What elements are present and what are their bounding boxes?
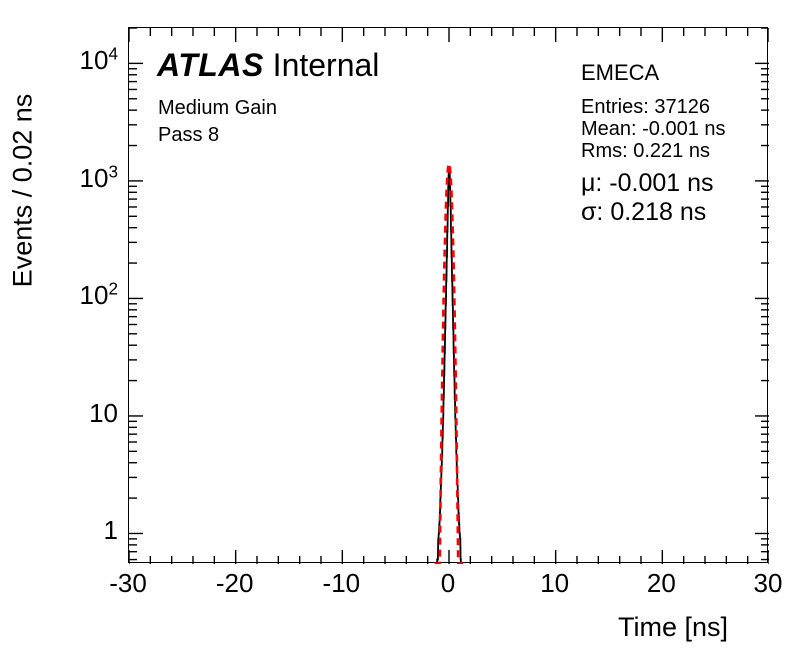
x-tick-label: 30 bbox=[723, 568, 796, 599]
pass-label: Pass 8 bbox=[158, 124, 219, 147]
y-tick-label: 104 bbox=[8, 45, 118, 76]
data-series-layer bbox=[435, 164, 464, 564]
partition-label: EMECA bbox=[581, 60, 659, 86]
fit-mu-label: μ: -0.001 ns bbox=[581, 169, 714, 198]
x-tick-label: -30 bbox=[83, 568, 173, 599]
fit-sigma-label: σ: 0.218 ns bbox=[581, 198, 706, 227]
gain-label: Medium Gain bbox=[158, 97, 277, 120]
mean-label: Mean: -0.001 ns bbox=[581, 118, 726, 141]
x-tick-label: 20 bbox=[616, 568, 706, 599]
entries-label: Entries: 37126 bbox=[581, 96, 710, 119]
x-tick-label: 10 bbox=[510, 568, 600, 599]
atlas-status-text: Internal bbox=[264, 47, 380, 83]
x-tick-label: 0 bbox=[403, 568, 493, 599]
y-tick-label: 102 bbox=[8, 280, 118, 311]
y-tick-label: 1 bbox=[8, 515, 118, 546]
x-axis-title: Time [ns] bbox=[618, 612, 728, 643]
y-tick-label: 103 bbox=[8, 163, 118, 194]
x-tick-label: -10 bbox=[296, 568, 386, 599]
atlas-label: ATLAS Internal bbox=[157, 47, 379, 84]
y-tick-label: 10 bbox=[8, 398, 118, 429]
rms-label: Rms: 0.221 ns bbox=[581, 140, 710, 163]
x-tick-label: -20 bbox=[190, 568, 280, 599]
chart-canvas: Events / 0.02 ns Time [ns] -30-20-100102… bbox=[0, 0, 796, 672]
atlas-bold-text: ATLAS bbox=[157, 47, 264, 83]
